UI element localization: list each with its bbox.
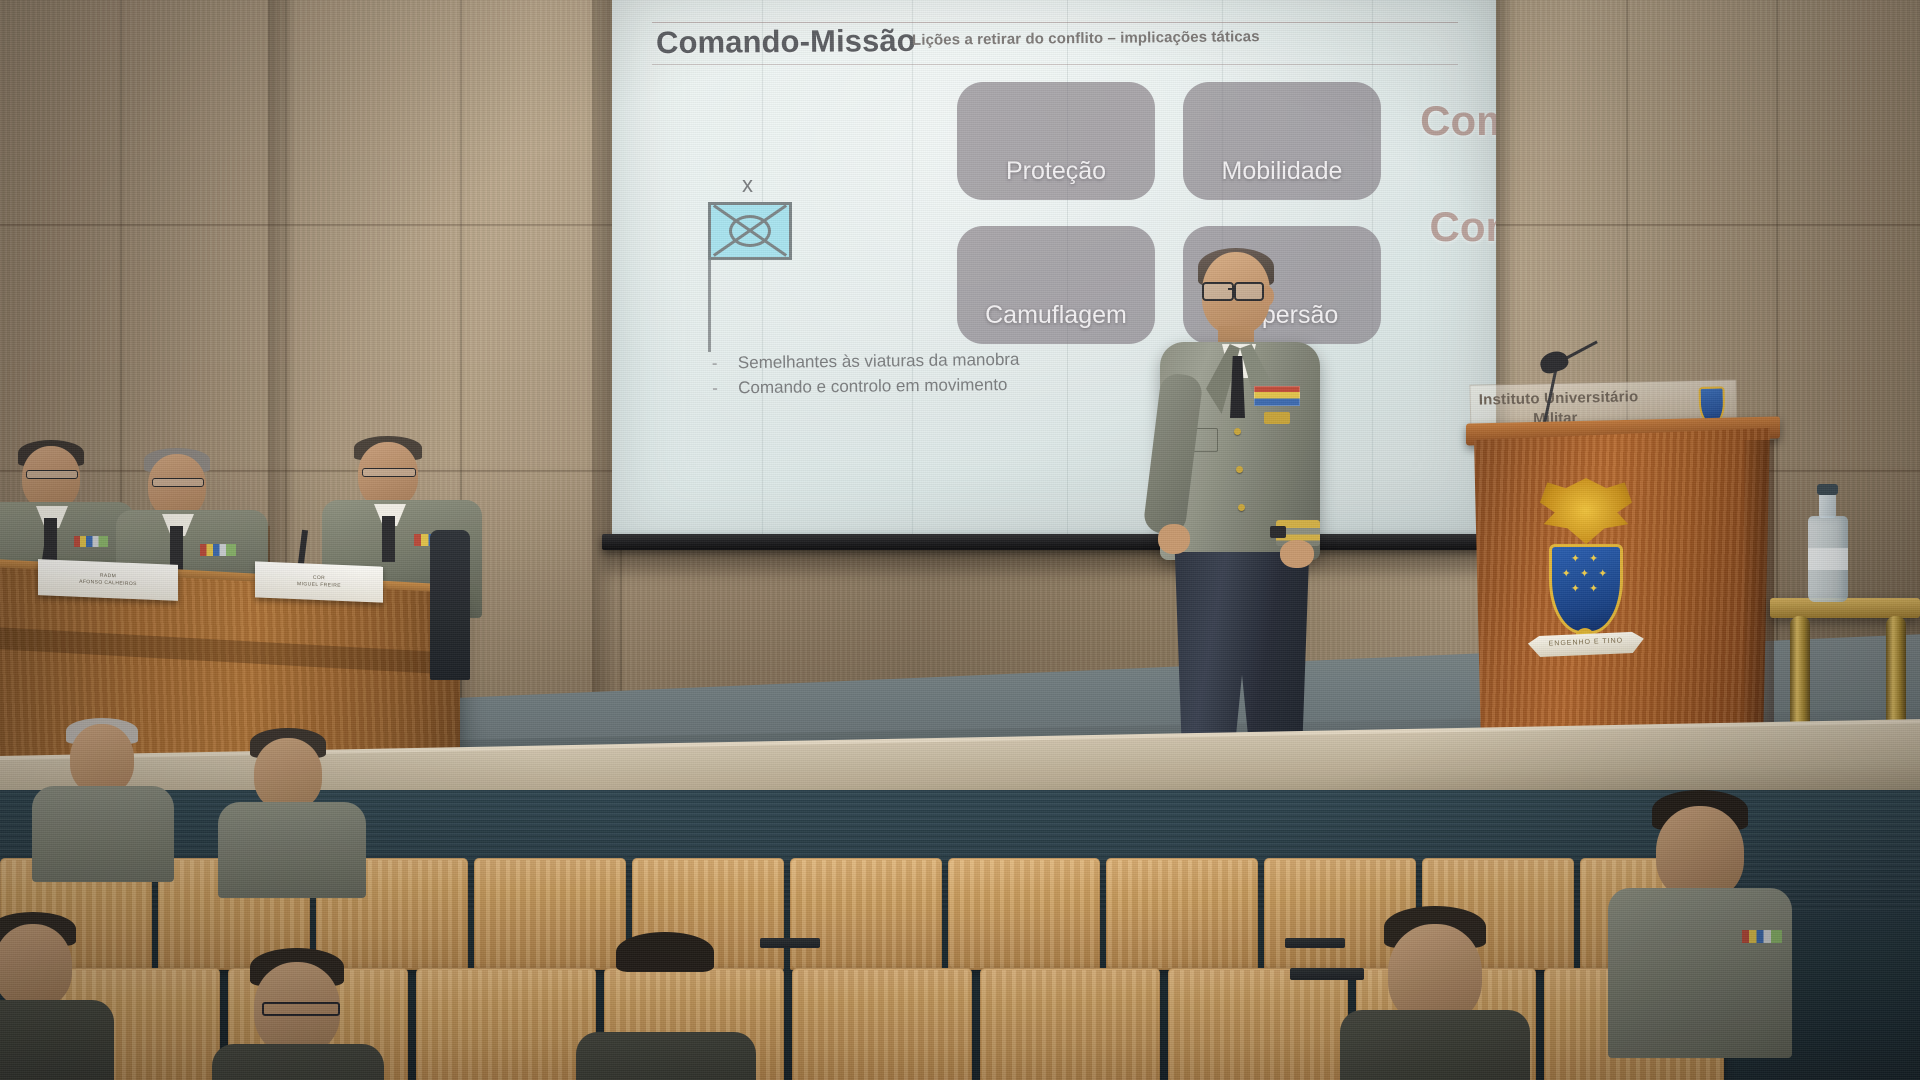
speaker-right-hand xyxy=(1280,540,1314,568)
slide-title: Comando-Missão xyxy=(656,23,916,61)
seat-writing-tray[interactable] xyxy=(1290,968,1364,980)
slide-subtitle: Lições a retirar do conflito – implicaçõ… xyxy=(912,28,1260,49)
slide-box-camuflagem: Camuflagem xyxy=(957,226,1155,344)
seat[interactable] xyxy=(948,858,1100,970)
bottle-cap xyxy=(1817,484,1838,495)
speaker-left-hand xyxy=(1158,524,1190,554)
seat[interactable] xyxy=(474,858,626,970)
headline-line: Controlo xyxy=(1402,200,1496,253)
slide-bullet-list: -Semelhantes às viaturas da manobra -Com… xyxy=(712,345,1133,400)
bullet-marker: - xyxy=(712,375,738,400)
bullet-marker: - xyxy=(712,350,738,375)
bullet-text: Semelhantes às viaturas da manobra xyxy=(738,350,1020,372)
glasses-icon xyxy=(262,1002,340,1016)
echelon-label: x xyxy=(742,172,753,198)
presentation-clicker xyxy=(1270,526,1286,538)
nato-armoured-unit-symbol-icon: x xyxy=(708,202,792,260)
crest-stars: ✦ ✦✦ ✦ ✦✦ ✦ xyxy=(1552,552,1620,624)
nameplate-name: MIGUEL FREIRE xyxy=(297,581,341,590)
nameplate: RADM AFONSO CALHEIROS xyxy=(38,559,178,601)
slide-headline-text: Comando e Controlo xyxy=(1402,94,1496,253)
list-item: -Comando e controlo em movimento xyxy=(712,370,1132,400)
tunic-button xyxy=(1236,466,1243,473)
presenting-officer xyxy=(1150,252,1340,812)
glasses-icon xyxy=(1202,282,1234,301)
slide-box-mobilidade: Mobilidade xyxy=(1183,82,1381,200)
side-table-top xyxy=(1770,598,1920,618)
box-label: Proteção xyxy=(1006,157,1106,200)
screen-surface: Comando-Missão Lições a retirar do confl… xyxy=(612,0,1496,546)
seat[interactable] xyxy=(1168,968,1348,1080)
glasses-icon xyxy=(1234,282,1264,301)
bullet-text: Comando e controlo em movimento xyxy=(738,375,1008,397)
seat-writing-tray[interactable] xyxy=(1285,938,1345,948)
seat[interactable] xyxy=(792,968,972,1080)
headline-line: Comando xyxy=(1402,94,1496,147)
screen-bottom-bar xyxy=(602,534,1506,550)
tunic-button xyxy=(1234,428,1241,435)
headline-line: e xyxy=(1402,147,1496,200)
nameplate: COR MIGUEL FREIRE xyxy=(255,561,383,602)
slide-box-protecao: Proteção xyxy=(957,82,1155,200)
slide-divider-bottom xyxy=(652,64,1458,65)
slide-content: Comando-Missão Lições a retirar do confl… xyxy=(612,0,1496,546)
podium-crest-icon: ✦ ✦✦ ✦ ✦✦ ✦ ENGENHO E TINO xyxy=(1530,482,1642,694)
box-label: Mobilidade xyxy=(1222,157,1343,200)
auditorium-scene: Comando-Missão Lições a retirar do confl… xyxy=(0,0,1920,1080)
tunic-button xyxy=(1238,504,1245,511)
seat[interactable] xyxy=(1106,858,1258,970)
slide-divider-top xyxy=(652,22,1458,23)
seat-writing-tray[interactable] xyxy=(760,938,820,948)
nameplate-name: AFONSO CALHEIROS xyxy=(79,579,137,588)
office-chair-back xyxy=(430,530,470,680)
box-label: Camuflagem xyxy=(985,301,1127,344)
bottle-label xyxy=(1808,548,1848,570)
projection-screen: Comando-Missão Lições a retirar do confl… xyxy=(612,0,1496,568)
seat[interactable] xyxy=(790,858,942,970)
medal-ribbons-icon xyxy=(1254,386,1300,406)
bottle-neck xyxy=(1819,492,1836,518)
seat[interactable] xyxy=(980,968,1160,1080)
uniform-badge-icon xyxy=(1264,412,1290,424)
seat[interactable] xyxy=(416,968,596,1080)
